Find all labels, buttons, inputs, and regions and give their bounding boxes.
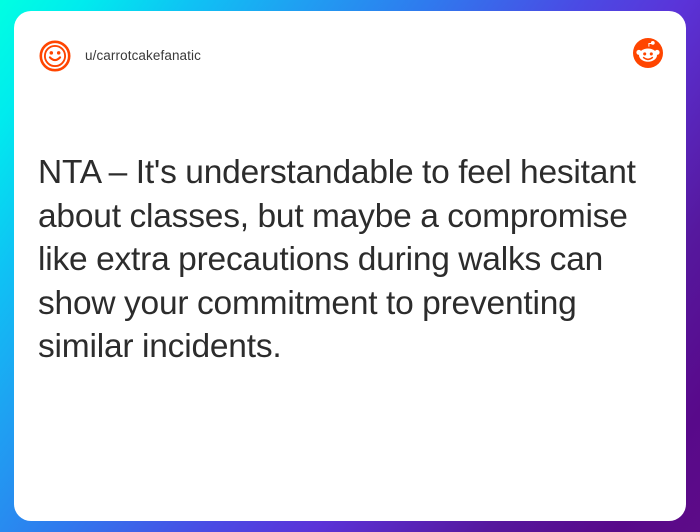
reddit-snoo-logo-icon (632, 37, 664, 69)
card-header: u/carrotcakefanatic (14, 11, 686, 103)
smiley-face-avatar-icon[interactable] (38, 39, 72, 73)
reddit-comment-card: u/carrotcakefanatic (14, 11, 686, 521)
username-label[interactable]: u/carrotcakefanatic (85, 39, 201, 73)
screenshot-canvas: u/carrotcakefanatic (0, 0, 700, 532)
post-body-text: NTA – It's understandable to feel hesita… (38, 151, 642, 369)
